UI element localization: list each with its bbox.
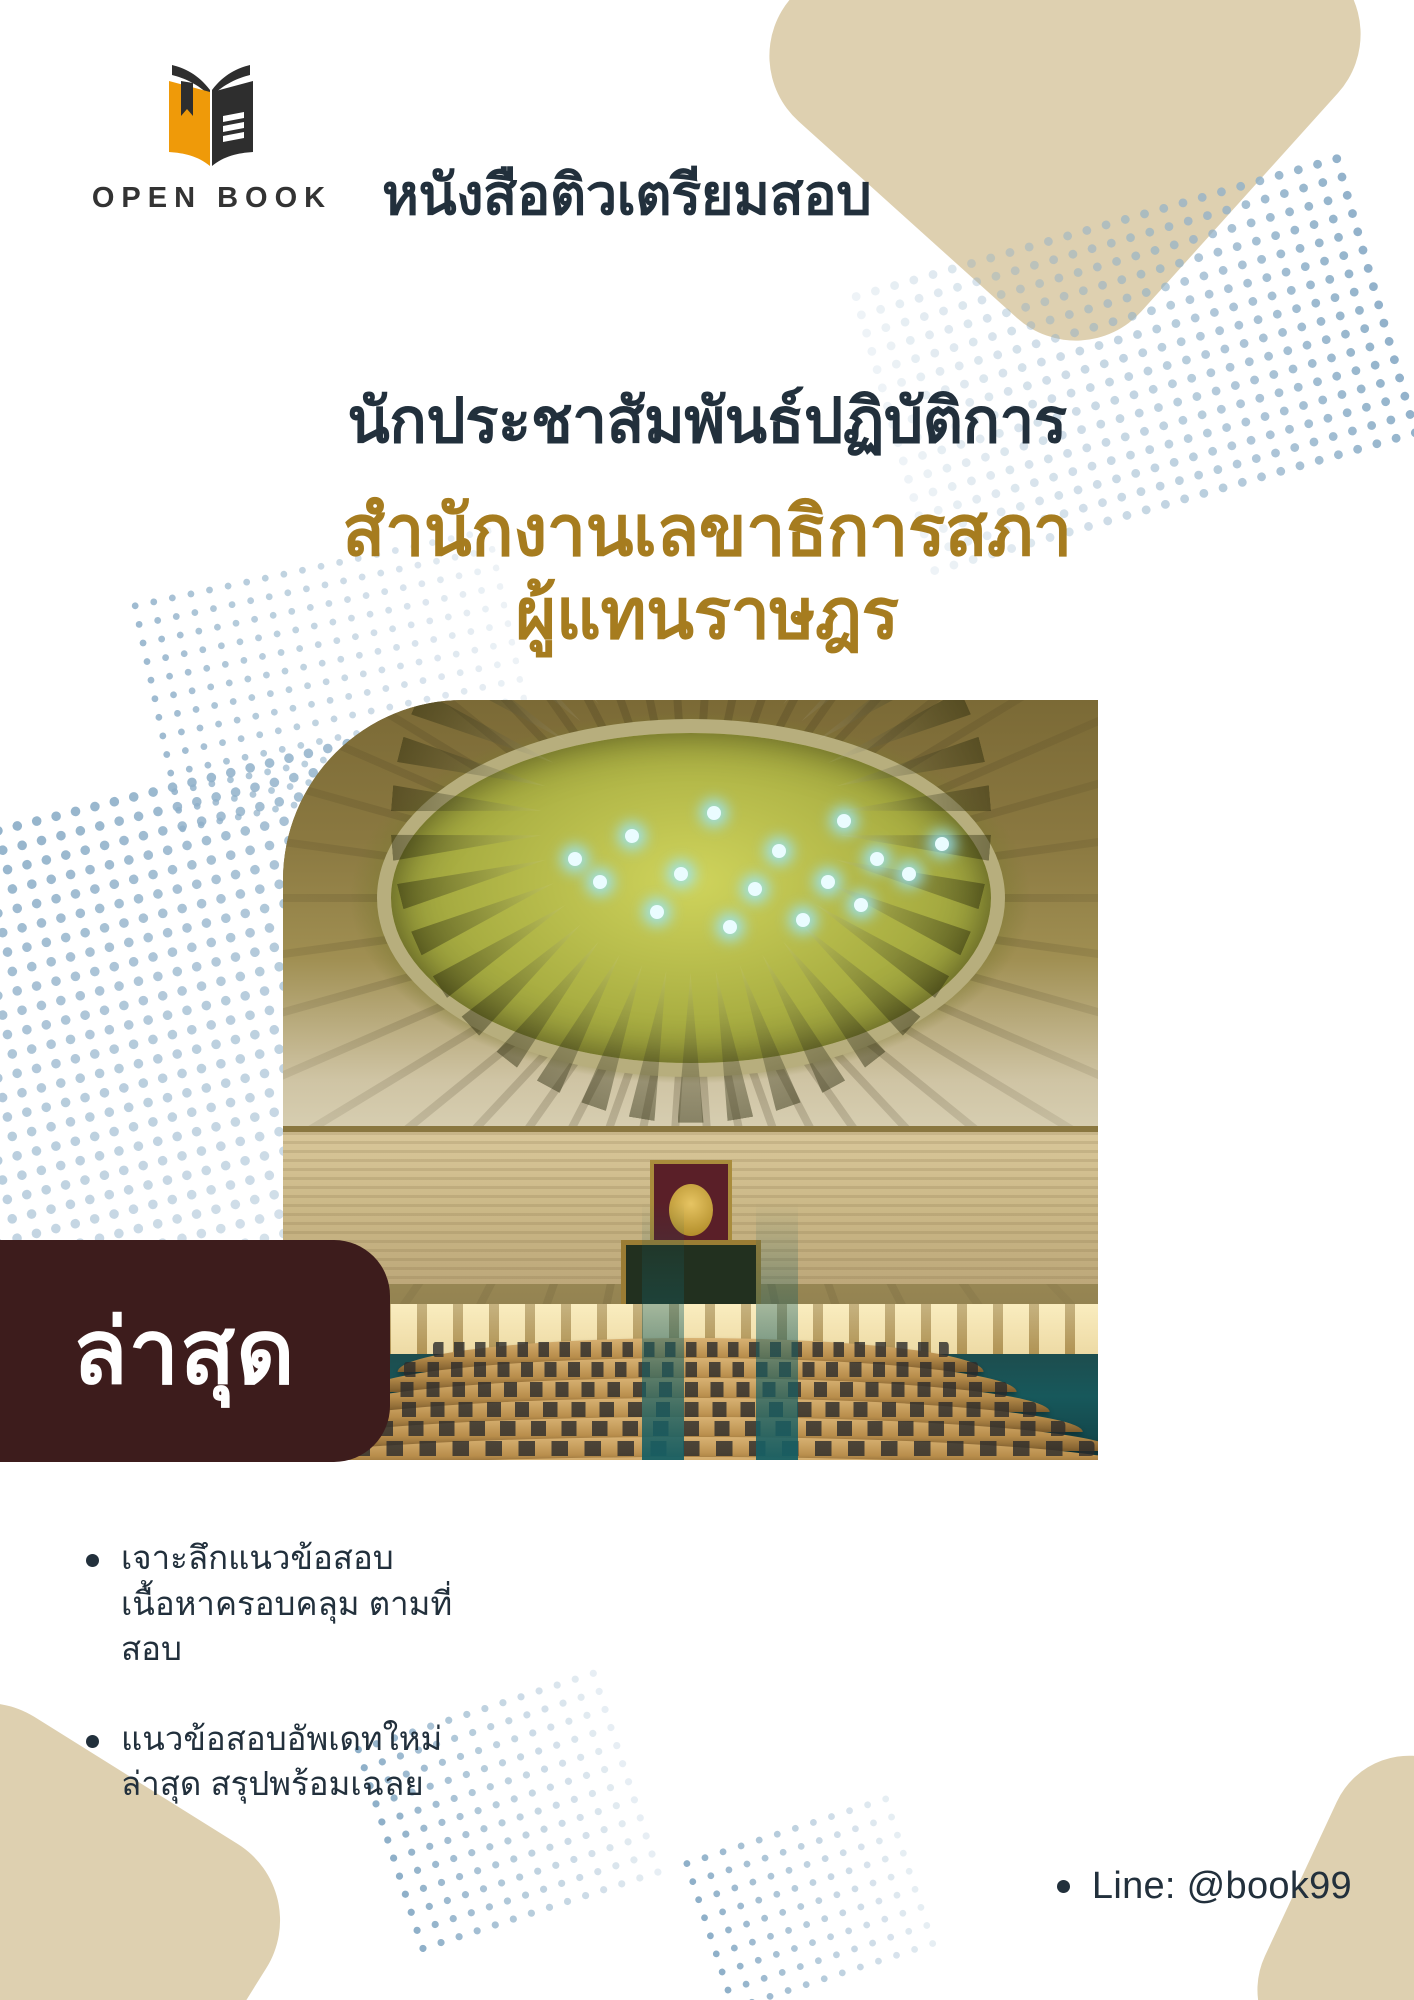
bullet-dot-icon — [86, 1554, 99, 1567]
list-item: เจาะลึกแนวข้อสอบ เนื้อหาครอบคลุม ตามที่ส… — [86, 1535, 486, 1672]
photo-ceiling-light — [821, 875, 835, 889]
photo-ceiling-light — [935, 837, 949, 851]
page-title-organization: สำนักงานเลขาธิการสภา ผู้แทนราษฎร — [0, 490, 1414, 655]
organization-line-1: สำนักงานเลขาธิการสภา — [0, 490, 1414, 573]
photo-ceiling-light — [854, 898, 868, 912]
organization-line-2: ผู้แทนราษฎร — [0, 573, 1414, 656]
contact-label: Line: @book99 — [1092, 1865, 1352, 1908]
photo-ceiling-light — [593, 875, 607, 889]
bullet-dot-icon — [1057, 1880, 1070, 1893]
poster-root: OPEN BOOK หนังสือติวเตรียมสอบ นักประชาสั… — [0, 0, 1414, 2000]
open-book-icon — [148, 52, 276, 172]
photo-aisle — [756, 1202, 798, 1460]
kicker-text: หนังสือติวเตรียมสอบ — [382, 150, 871, 239]
bullet-dot-icon — [86, 1735, 99, 1748]
page-title-position: นักประชาสัมพันธ์ปฏิบัติการ — [0, 372, 1414, 470]
photo-ceiling-light — [650, 905, 664, 919]
brand-name: OPEN BOOK — [92, 182, 332, 215]
status-badge-label: ล่าสุด — [54, 1280, 295, 1423]
photo-ceiling-light — [870, 852, 884, 866]
status-badge: ล่าสุด — [0, 1240, 390, 1462]
feature-list: เจาะลึกแนวข้อสอบ เนื้อหาครอบคลุม ตามที่ส… — [86, 1535, 486, 1851]
feature-text: แนวข้อสอบอัพเดทใหม่ ล่าสุด สรุปพร้อมเฉลย — [121, 1716, 486, 1807]
decor-dot-pattern-bottom-right — [679, 1789, 950, 2000]
contact-line[interactable]: Line: @book99 — [1057, 1865, 1352, 1908]
photo-ceiling-light — [748, 882, 762, 896]
brand-logo: OPEN BOOK — [62, 52, 362, 215]
parliament-chamber-photo — [283, 700, 1098, 1460]
feature-text: เจาะลึกแนวข้อสอบ เนื้อหาครอบคลุม ตามที่ส… — [121, 1535, 486, 1672]
list-item: แนวข้อสอบอัพเดทใหม่ ล่าสุด สรุปพร้อมเฉลย — [86, 1716, 486, 1807]
photo-aisle — [642, 1202, 684, 1460]
